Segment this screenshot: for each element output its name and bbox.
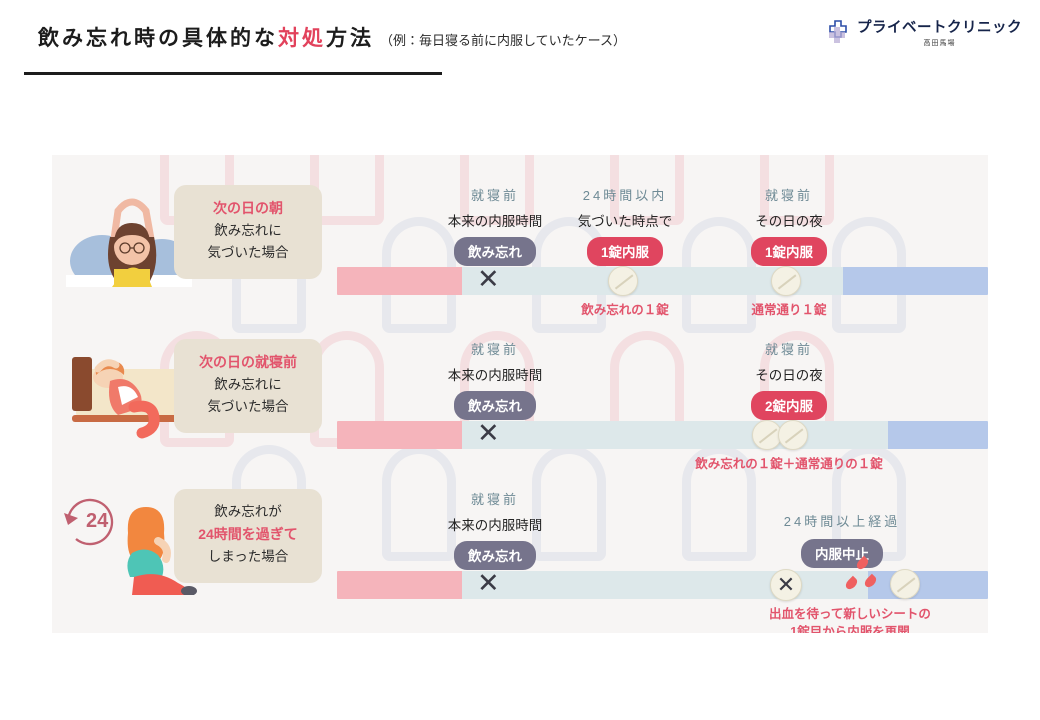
case-highlight: 次の日の就寝前 — [180, 351, 316, 374]
column-time-label: 24時間以上経過 — [752, 511, 932, 530]
cross-clinic-icon — [824, 19, 850, 45]
case-highlight: 24時間を過ぎて — [180, 523, 316, 546]
column-bedtime-original: 就寝前 本来の内服時間 飲み忘れ — [430, 339, 560, 420]
timeline-caption: 通常通り１錠 — [724, 301, 854, 319]
timeline-segment-normal — [843, 267, 988, 295]
pill-icon — [778, 420, 808, 450]
clinic-location: 高田馬場 — [924, 38, 956, 48]
column-within-24h: 24時間以内 気づいた時点で 1錠内服 — [560, 185, 690, 266]
case-description-box: 次の日の朝 飲み忘れに 気づいた場合 — [174, 185, 322, 279]
case-row-over-24h: 24 飲み忘れが 24時間を過ぎて しまった場合 就寝前 本来の内服時間 飲み忘… — [52, 475, 988, 633]
timeline-caption: 飲み忘れの１錠 — [560, 301, 690, 319]
column-desc-label: その日の夜 — [724, 210, 854, 230]
missed-dose-x-icon: ✕ — [477, 420, 500, 447]
column-time-label: 就寝前 — [430, 489, 560, 508]
case-description-box: 次の日の就寝前 飲み忘れに 気づいた場合 — [174, 339, 322, 433]
column-desc-label: 本来の内服時間 — [430, 514, 560, 534]
column-time-label: 24時間以内 — [560, 185, 690, 204]
title-accent: 対処 — [278, 27, 326, 50]
case-line-3: 気づいた場合 — [180, 396, 316, 418]
pill-icon — [608, 266, 638, 296]
column-time-label: 就寝前 — [430, 185, 560, 204]
column-desc-label: 本来の内服時間 — [430, 364, 560, 384]
case-line-3: 気づいた場合 — [180, 242, 316, 264]
missed-dose-x-icon: ✕ — [477, 266, 500, 293]
title-subtitle: （例：毎日寝る前に内服していたケース） — [380, 30, 626, 49]
status-badge: 内服中止 — [801, 539, 883, 568]
status-badge: 飲み忘れ — [454, 237, 536, 266]
case-line-2: 飲み忘れに — [180, 374, 316, 396]
column-time-label: 就寝前 — [724, 185, 854, 204]
case-line-2: 飲み忘れに — [180, 220, 316, 242]
column-over-24h: 24時間以上経過 内服中止 — [752, 511, 932, 568]
status-badge: 飲み忘れ — [454, 391, 536, 420]
title-underline-rule — [24, 72, 442, 75]
column-that-night: 就寝前 その日の夜 2錠内服 — [724, 339, 854, 420]
timeline-segment-stopped — [868, 571, 988, 599]
status-badge: 飲み忘れ — [454, 541, 536, 570]
clinic-logo-text: プライベートクリニック 高田馬場 — [857, 16, 1022, 48]
page-title: 飲み忘れ時の具体的な対処方法 （例：毎日寝る前に内服していたケース） — [38, 22, 626, 52]
case-description-box: 飲み忘れが 24時間を過ぎて しまった場合 — [174, 489, 322, 583]
timeline-segment-missed — [337, 421, 462, 449]
timeline-segment-missed — [337, 571, 462, 599]
case-highlight: 次の日の朝 — [180, 197, 316, 220]
column-time-label: 就寝前 — [724, 339, 854, 358]
timeline-segment-missed — [337, 267, 462, 295]
case-line-1: 飲み忘れが — [180, 501, 316, 523]
timeline-segment-window — [462, 421, 888, 449]
pill-icon — [771, 266, 801, 296]
status-badge: 2錠内服 — [751, 391, 827, 420]
timeline-bar — [337, 421, 988, 449]
column-desc-label: 気づいた時点で — [560, 210, 690, 230]
column-that-night: 就寝前 その日の夜 1錠内服 — [724, 185, 854, 266]
timeline-segment-window — [462, 571, 868, 599]
pill-icon — [890, 569, 920, 599]
missed-dose-x-icon: ✕ — [477, 570, 500, 597]
timeline-segment-normal — [888, 421, 988, 449]
title-main-part-a: 飲み忘れ時の具体的な — [38, 27, 278, 50]
column-desc-label: その日の夜 — [724, 364, 854, 384]
timeline-caption: 出血を待って新しいシートの 1錠目から内服を再開 — [712, 605, 988, 633]
timeline-caption-line-2: 1錠目から内服を再開 — [712, 623, 988, 633]
case-row-morning: 次の日の朝 飲み忘れに 気づいた場合 就寝前 本来の内服時間 飲み忘れ 24時間… — [52, 167, 988, 327]
timeline-bar — [337, 267, 988, 295]
case-row-next-bedtime: 次の日の就寝前 飲み忘れに 気づいた場合 就寝前 本来の内服時間 飲み忘れ 就寝… — [52, 325, 988, 470]
svg-text:24: 24 — [86, 510, 109, 532]
column-time-label: 就寝前 — [430, 339, 560, 358]
timeline-caption: 飲み忘れの１錠＋通常通りの１錠 — [664, 455, 914, 473]
case-line-3: しまった場合 — [180, 546, 316, 568]
title-main-part-b: 方法 — [326, 27, 374, 50]
infographic-page: 飲み忘れ時の具体的な対処方法 （例：毎日寝る前に内服していたケース） プライベー… — [0, 0, 1040, 720]
column-bedtime-original: 就寝前 本来の内服時間 飲み忘れ — [430, 185, 560, 266]
status-badge: 1錠内服 — [751, 237, 827, 266]
infographic-panel: 次の日の朝 飲み忘れに 気づいた場合 就寝前 本来の内服時間 飲み忘れ 24時間… — [52, 155, 988, 633]
stop-medication-x-icon: ✕ — [770, 569, 802, 601]
column-desc-label: 本来の内服時間 — [430, 210, 560, 230]
clinic-name: プライベートクリニック — [857, 16, 1022, 37]
status-badge: 1錠内服 — [587, 237, 663, 266]
clinic-logo: プライベートクリニック 高田馬場 — [824, 16, 1022, 48]
timeline-caption-line-1: 出血を待って新しいシートの — [712, 605, 988, 623]
column-bedtime-original: 就寝前 本来の内服時間 飲み忘れ — [430, 489, 560, 570]
page-header: 飲み忘れ時の具体的な対処方法 （例：毎日寝る前に内服していたケース） プライベー… — [0, 0, 1040, 90]
